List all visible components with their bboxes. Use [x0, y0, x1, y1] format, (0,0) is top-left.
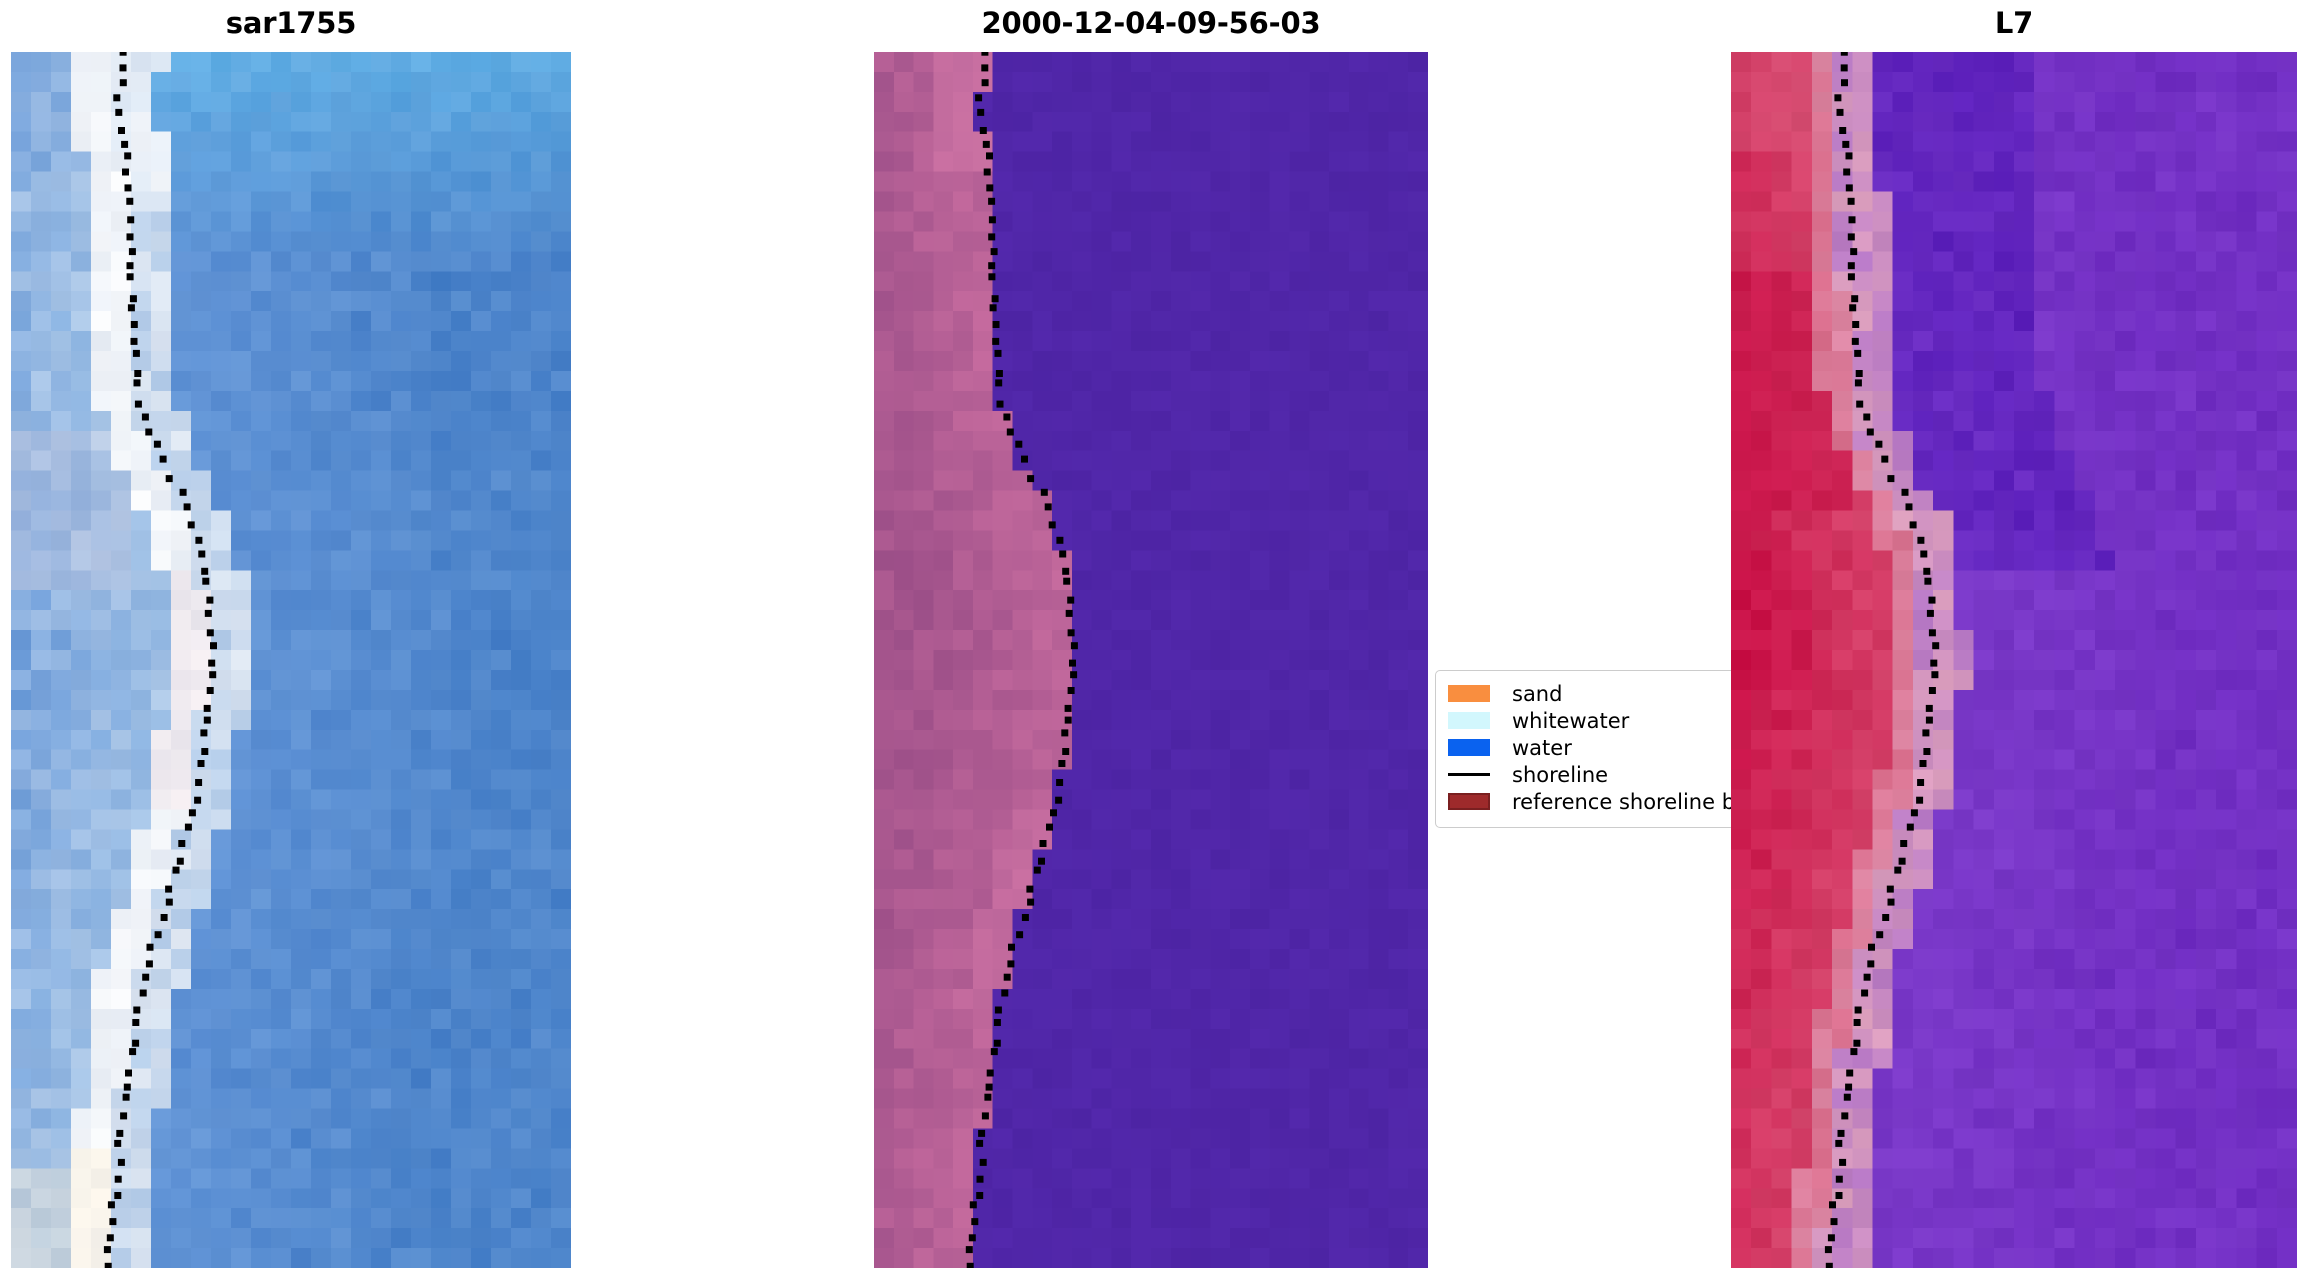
legend-box[interactable]: sand whitewater water shoreline referenc…: [1435, 670, 1740, 828]
panel-l7[interactable]: [1731, 52, 2297, 1268]
legend-item-water[interactable]: water: [1448, 734, 1729, 761]
legend-item-whitewater[interactable]: whitewater: [1448, 707, 1729, 734]
figure-canvas: sar1755 2000-12-04-09-56-03 sand whitewa…: [0, 0, 2297, 1283]
legend-label-sand: sand: [1512, 682, 1562, 706]
legend-swatch-water: [1448, 739, 1490, 756]
legend-swatch-shoreline: [1448, 773, 1490, 776]
legend-item-sand[interactable]: sand: [1448, 680, 1729, 707]
classification-raster-image: [874, 52, 1428, 1268]
l7-raster-image: [1731, 52, 2297, 1268]
legend-swatch-whitewater: [1448, 712, 1490, 729]
panel-title-sar: sar1755: [11, 6, 571, 40]
panel-title-classification: 2000-12-04-09-56-03: [874, 6, 1428, 40]
panel-title-l7: L7: [1731, 6, 2297, 40]
sar-raster-image: [11, 52, 571, 1268]
legend-swatch-sand: [1448, 685, 1490, 702]
legend-swatch-reference-shoreline-buffer: [1448, 793, 1490, 810]
legend-label-water: water: [1512, 736, 1572, 760]
panel-classification[interactable]: [874, 52, 1428, 1268]
legend-item-reference-shoreline-buffer[interactable]: reference shoreline buffer: [1448, 788, 1729, 815]
panel-sar1755[interactable]: [11, 52, 571, 1268]
legend-label-whitewater: whitewater: [1512, 709, 1629, 733]
legend-item-shoreline[interactable]: shoreline: [1448, 761, 1729, 788]
legend-label-shoreline: shoreline: [1512, 763, 1608, 787]
